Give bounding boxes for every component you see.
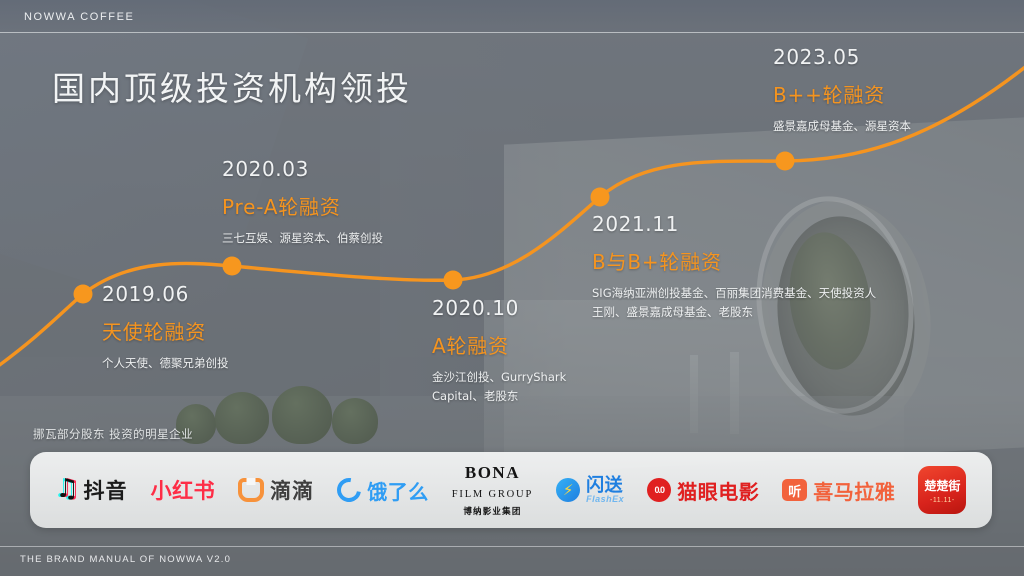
flashex-wordmark: 闪送 FlashEx	[586, 476, 624, 504]
milestone-round: Pre-A轮融资	[222, 191, 383, 220]
milestone-investors: SIG海纳亚洲创投基金、百丽集团消费基金、天使投资人王刚、盛景嘉成母基金、老股东	[592, 284, 882, 322]
logo-label: 闪送	[586, 476, 624, 495]
footer-rule	[0, 546, 1024, 547]
logo-label: 滴滴	[270, 475, 314, 505]
logo-sub-label: -11.11-	[930, 497, 955, 504]
milestone-date: 2020.10	[432, 296, 607, 320]
didi-mark-icon	[238, 478, 264, 502]
logo-bar-caption: 挪瓦部分股东 投资的明星企业	[33, 426, 193, 442]
top-bar	[0, 0, 1024, 33]
logo-label: 猫眼电影	[677, 476, 759, 505]
milestone-round: A轮融资	[432, 330, 607, 359]
milestone-round: 天使轮融资	[102, 316, 229, 345]
brand-wordmark: NOWWA COFFEE	[24, 11, 134, 23]
logo-label: 饿了么	[367, 476, 429, 505]
logo-didi[interactable]: 滴滴	[238, 475, 314, 505]
milestone-date: 2019.06	[102, 282, 229, 306]
milestone-2023-05: 2023.05 B++轮融资 盛景嘉成母基金、源星资本	[773, 45, 1024, 136]
slide-root: NOWWA COFFEE 国内顶级投资机构领投 2019.06 天使轮融资 个人…	[0, 0, 1024, 576]
milestone-2020-10: 2020.10 A轮融资 金沙江创投、GurryShark Capital、老股…	[432, 296, 607, 406]
logo-label-en: FILM GROUP	[452, 489, 533, 501]
logo-flashex[interactable]: ⚡ 闪送 FlashEx	[556, 476, 624, 504]
milestone-round: B与B+轮融资	[592, 246, 882, 275]
logo-eleme[interactable]: 饿了么	[337, 476, 429, 505]
milestone-round: B++轮融资	[773, 79, 1024, 108]
milestone-date: 2020.03	[222, 157, 383, 181]
milestone-investors: 盛景嘉成母基金、源星资本	[773, 117, 1024, 136]
bona-wordmark-icon: BONA	[465, 463, 520, 483]
milestone-investors: 金沙江创投、GurryShark Capital、老股东	[432, 368, 607, 406]
milestone-2021-11: 2021.11 B与B+轮融资 SIG海纳亚洲创投基金、百丽集团消费基金、天使投…	[592, 212, 882, 322]
logo-label-cn: 博纳影业集团	[463, 507, 521, 517]
logo-douyin[interactable]: ♫ ♫ ♫ 抖音	[56, 475, 128, 505]
milestone-investors: 个人天使、德聚兄弟创投	[102, 354, 229, 373]
milestone-date: 2023.05	[773, 45, 1024, 69]
chuchujie-app-icon: 楚楚街	[924, 477, 960, 494]
xiaohongshu-wordmark-icon: 小红书	[151, 475, 216, 505]
footer-text: THE BRAND MANUAL OF NOWWA V2.0	[20, 554, 231, 565]
logo-xiaohongshu[interactable]: 小红书	[151, 475, 216, 505]
milestone-2020-03: 2020.03 Pre-A轮融资 三七互娱、源星资本、伯蔡创投	[222, 157, 383, 248]
portfolio-logo-bar: ♫ ♫ ♫ 抖音 小红书 滴滴 饿了么 BONA FILM GROUP 博纳影业…	[30, 452, 992, 528]
logo-label: 抖音	[84, 475, 128, 505]
milestone-2019-06: 2019.06 天使轮融资 个人天使、德聚兄弟创投	[102, 282, 229, 373]
logo-label: 喜马拉雅	[813, 476, 895, 505]
logo-maoyan[interactable]: 0.0 猫眼电影	[647, 476, 759, 505]
music-note-icon: ♫ ♫ ♫	[56, 477, 78, 503]
logo-ximalaya[interactable]: 听 喜马拉雅	[782, 476, 895, 505]
top-bar-rule	[0, 32, 1024, 33]
eleme-e-icon	[333, 473, 366, 506]
logo-bona-film-group[interactable]: BONA FILM GROUP 博纳影业集团	[452, 463, 533, 516]
lightning-bolt-icon: ⚡	[556, 478, 580, 502]
cat-face-icon: 0.0	[647, 478, 671, 502]
milestone-date: 2021.11	[592, 212, 882, 236]
logo-label-en: FlashEx	[586, 495, 624, 504]
listen-square-icon: 听	[782, 479, 807, 501]
page-title: 国内顶级投资机构领投	[52, 62, 412, 110]
logo-chuchujie[interactable]: 楚楚街 -11.11-	[918, 466, 966, 514]
milestone-investors: 三七互娱、源星资本、伯蔡创投	[222, 229, 383, 248]
